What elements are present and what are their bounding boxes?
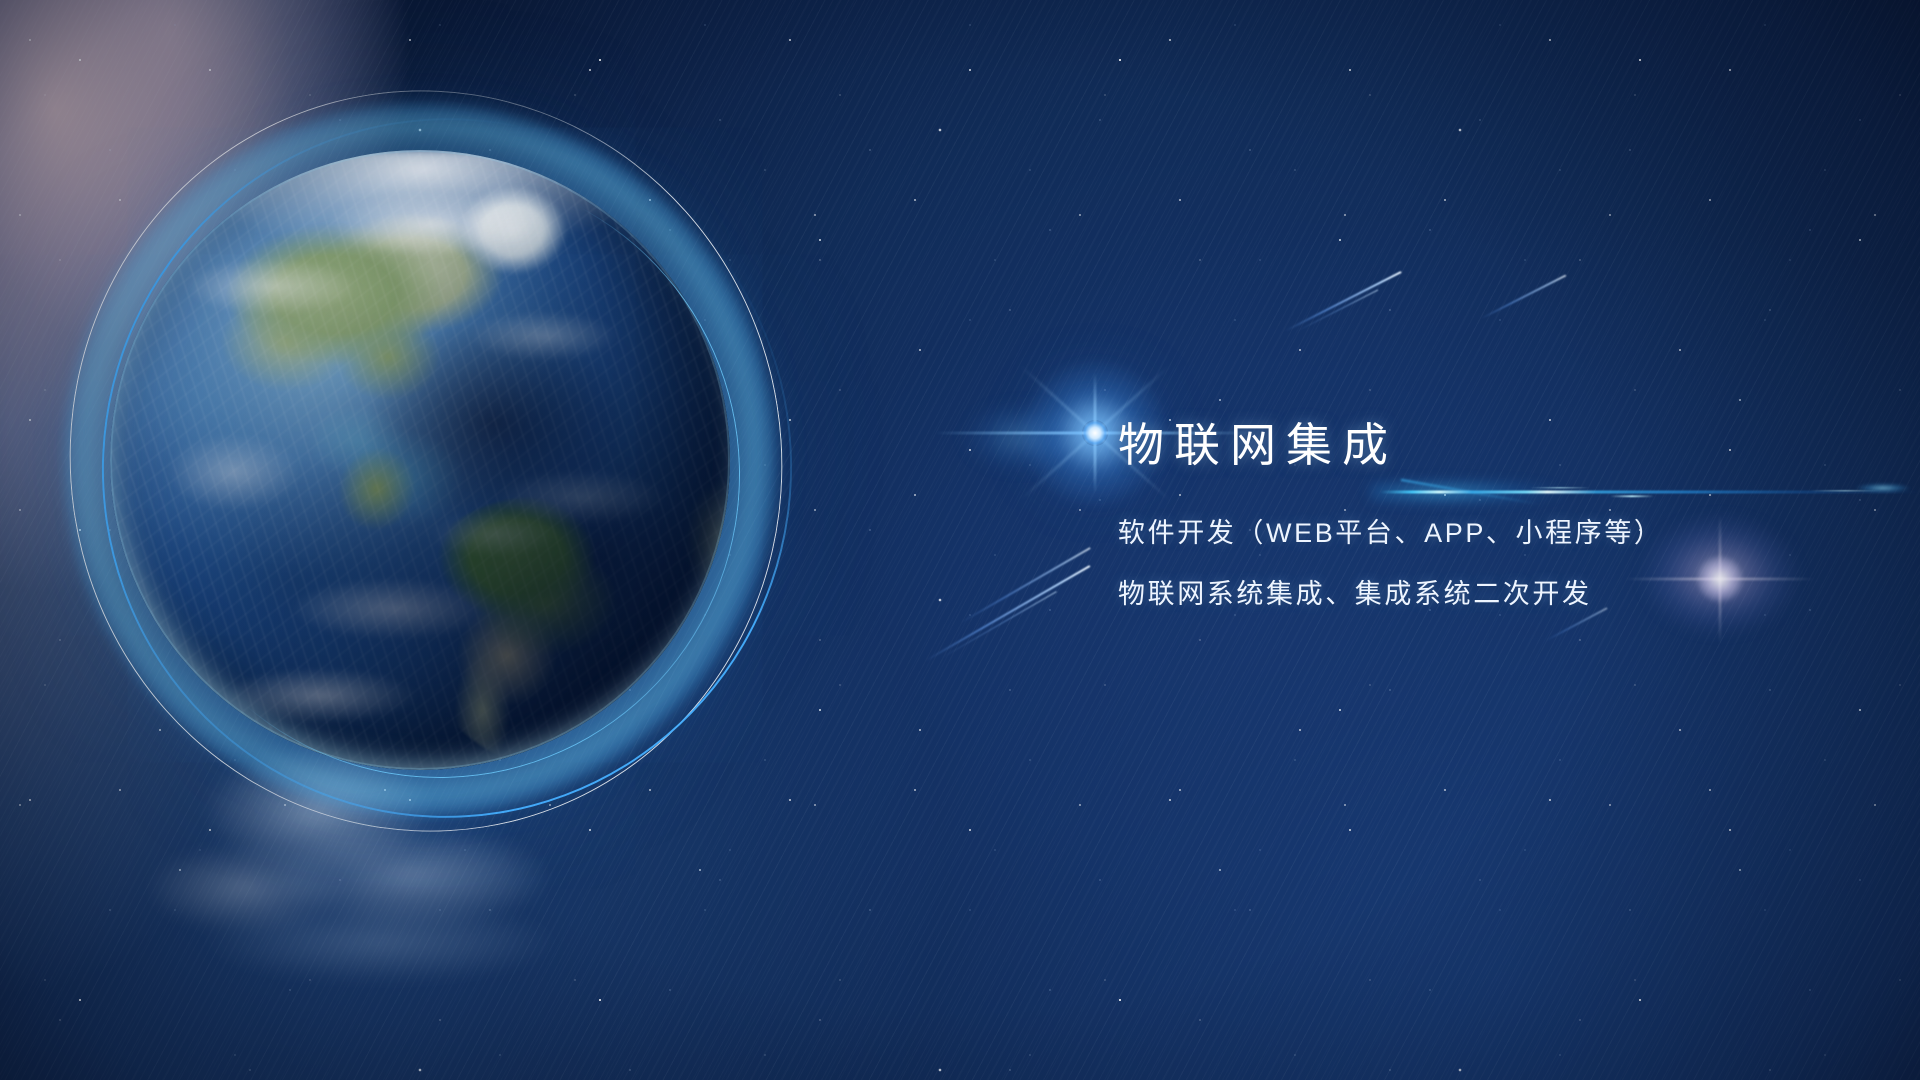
globe-sphere bbox=[110, 150, 730, 770]
meteor-tail bbox=[1545, 607, 1608, 642]
flare-core bbox=[1082, 420, 1108, 446]
hero-text-block: 物联网集成 软件开发（WEB平台、APP、小程序等） 物联网系统集成、集成系统二… bbox=[1118, 418, 1878, 608]
subtitle-line-1: 软件开发（WEB平台、APP、小程序等） bbox=[1118, 520, 1878, 547]
globe-edge-bloom bbox=[915, 392, 1065, 482]
meteor-tail bbox=[1480, 274, 1567, 320]
meteor-streak-5 bbox=[1545, 607, 1607, 640]
meteor-streak-1 bbox=[1285, 271, 1401, 330]
meteor-tail bbox=[925, 565, 1091, 662]
meteor-tail bbox=[960, 547, 1091, 624]
globe-limb-rim-light bbox=[110, 150, 730, 770]
meteor-streak-3 bbox=[925, 565, 1090, 660]
meteor-tail-secondary bbox=[941, 591, 1057, 659]
earth-globe-americas bbox=[110, 150, 730, 770]
meteor-streak-2 bbox=[1480, 274, 1566, 318]
meteor-tail bbox=[1285, 271, 1402, 332]
meteor-streak-4 bbox=[960, 547, 1090, 622]
subtitle-line-2: 物联网系统集成、集成系统二次开发 bbox=[1118, 581, 1878, 608]
meteor-tail-secondary bbox=[1297, 289, 1379, 332]
hero-banner: 物联网集成 软件开发（WEB平台、APP、小程序等） 物联网系统集成、集成系统二… bbox=[0, 0, 1920, 1080]
page-title: 物联网集成 bbox=[1118, 418, 1878, 472]
flare-spike-vertical bbox=[1094, 373, 1097, 493]
